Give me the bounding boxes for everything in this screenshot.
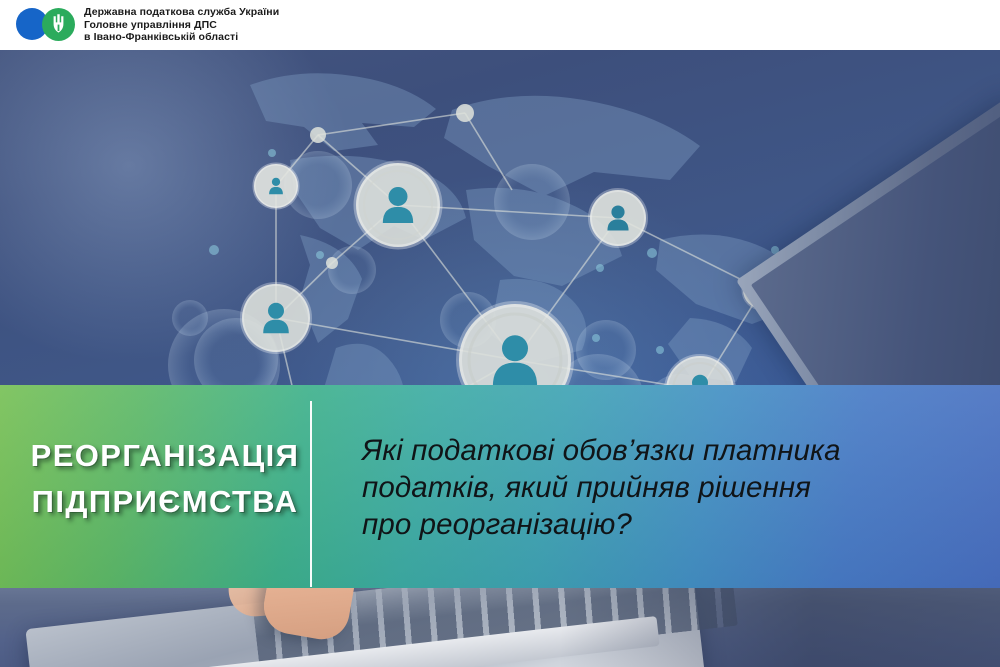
kicker-line-2: ПІДПРИЄМСТВА xyxy=(22,479,308,525)
question-line-1: Які податкові обов’язки платника xyxy=(362,432,952,469)
title-banner: РЕОРГАНІЗАЦІЯ ПІДПРИЄМСТВА Які податкові… xyxy=(0,385,1000,588)
organization-name: Державна податкова служба України Головн… xyxy=(84,6,279,44)
org-line-3: в Івано-Франківській області xyxy=(84,31,279,44)
logo-green-circle-icon xyxy=(42,8,75,41)
org-line-2: Головне управління ДПС xyxy=(84,19,279,32)
ukraine-trident-icon xyxy=(49,13,68,35)
question-line-3: про реорганізацію? xyxy=(362,506,952,543)
site-header: Державна податкова служба України Головн… xyxy=(0,0,1000,50)
agency-logo xyxy=(16,8,78,42)
banner-question: Які податкові обов’язки платника податкі… xyxy=(362,432,952,543)
question-line-2: податків, який прийняв рішення xyxy=(362,469,952,506)
laptop-keyboard-area xyxy=(0,577,1000,667)
banner-divider xyxy=(310,401,312,587)
banner-kicker: РЕОРГАНІЗАЦІЯ ПІДПРИЄМСТВА xyxy=(22,433,308,525)
keyboard-right-shade xyxy=(560,577,1000,667)
org-line-1: Державна податкова служба України xyxy=(84,6,279,19)
kicker-line-1: РЕОРГАНІЗАЦІЯ xyxy=(22,433,308,479)
poster-page: Державна податкова служба України Головн… xyxy=(0,0,1000,667)
